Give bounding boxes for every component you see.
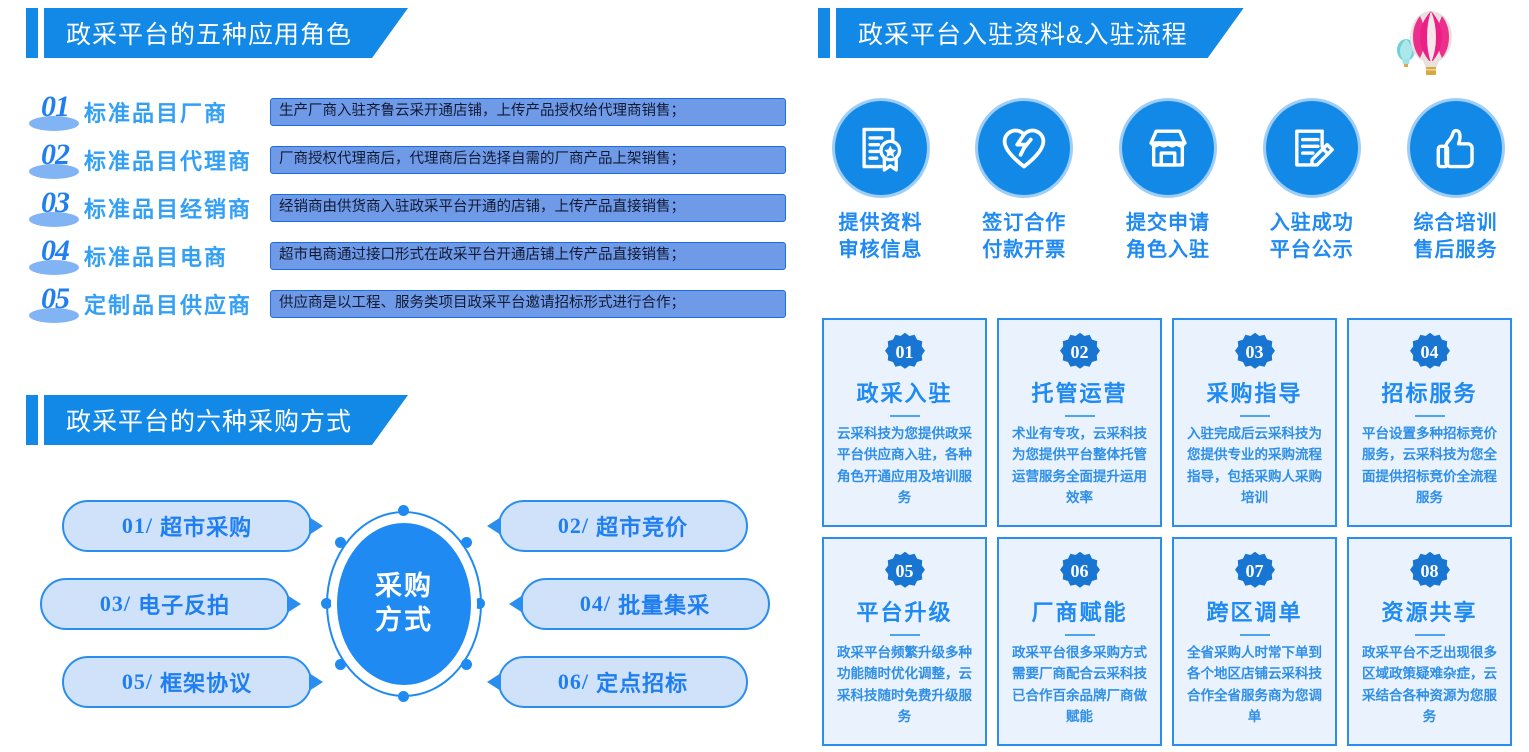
role-number-text: 02 — [26, 138, 84, 172]
step-caption: 提供资料 审核信息 — [839, 210, 923, 264]
role-name: 定制品目供应商 — [84, 288, 270, 320]
roles-section-title: 政采平台的五种应用角色 — [66, 15, 352, 51]
card-divider — [890, 634, 920, 636]
card-title: 厂商赋能 — [1031, 595, 1127, 627]
card-text: 政采平台很多采购方式需要厂商配合云采科技已合作百余品牌厂商做赋能 — [999, 642, 1160, 727]
role-row: 02 标准品目代理商 厂商授权代理商后，代理商后台选择自需的厂商产品上架销售； — [26, 136, 786, 184]
onboarding-step[interactable]: 提交申请 角色入驻 — [1106, 98, 1231, 288]
document-edit-icon — [1285, 121, 1339, 175]
service-card[interactable]: 08 资源共享 政采平台不乏出现很多区域政策疑难杂症，云采结合各种资源为您服务 — [1347, 537, 1512, 746]
step-icon-circle — [1407, 98, 1505, 198]
card-number-text: 06 — [1060, 551, 1100, 591]
onboarding-step[interactable]: 签订合作 付款开票 — [962, 98, 1087, 288]
role-number-badge: 05 — [26, 284, 84, 324]
card-divider — [1415, 415, 1445, 417]
step-caption: 入驻成功 平台公示 — [1270, 210, 1354, 264]
card-text: 平台设置多种招标竞价服务，云采科技为您全面提供招标竞价全流程服务 — [1349, 423, 1510, 508]
service-card[interactable]: 06 厂商赋能 政采平台很多采购方式需要厂商配合云采科技已合作百余品牌厂商做赋能 — [997, 537, 1162, 746]
step-caption-line2: 售后服务 — [1414, 237, 1498, 264]
method-bubble-03[interactable]: 03/ 电子反拍 — [40, 578, 290, 630]
role-description: 厂商授权代理商后，代理商后台选择自需的厂商产品上架销售； — [270, 146, 786, 174]
method-bubble-01[interactable]: 01/ 超市采购 — [62, 500, 312, 552]
card-number-badge: 04 — [1410, 332, 1450, 372]
card-divider — [1415, 634, 1445, 636]
thumbs-up-icon — [1429, 121, 1483, 175]
card-number-text: 01 — [885, 332, 925, 372]
card-number-text: 07 — [1235, 551, 1275, 591]
role-number-text: 01 — [26, 90, 84, 124]
step-caption: 提交申请 角色入驻 — [1126, 210, 1210, 264]
card-number-badge: 07 — [1235, 551, 1275, 591]
method-label: 批量集采 — [618, 588, 710, 620]
method-bubble-05[interactable]: 05/ 框架协议 — [62, 656, 312, 708]
method-number: 01/ — [122, 513, 153, 539]
step-icon-circle — [1119, 98, 1217, 198]
step-caption-line1: 入驻成功 — [1270, 210, 1354, 237]
hub-line-2: 方式 — [375, 604, 433, 638]
method-label: 框架协议 — [160, 666, 252, 698]
method-bubble-04[interactable]: 04/ 批量集采 — [520, 578, 770, 630]
hub-dot — [321, 598, 332, 609]
method-number: 05/ — [122, 669, 153, 695]
step-caption-line1: 提交申请 — [1126, 210, 1210, 237]
card-text: 入驻完成后云采科技为您提供专业的采购流程指导，包括采购人采购培训 — [1174, 423, 1335, 508]
storefront-icon — [1141, 121, 1195, 175]
hub-dot — [461, 537, 472, 548]
role-row: 05 定制品目供应商 供应商是以工程、服务类项目政采平台邀请招标形式进行合作； — [26, 280, 786, 328]
service-card[interactable]: 01 政采入驻 云采科技为您提供政采平台供应商入驻，各种角色开通应用及培训服务 — [822, 318, 987, 527]
role-number-badge: 04 — [26, 236, 84, 276]
hot-air-balloon-icon — [1382, 6, 1462, 78]
card-title: 资源共享 — [1381, 595, 1477, 627]
card-text: 云采科技为您提供政采平台供应商入驻，各种角色开通应用及培训服务 — [824, 423, 985, 508]
step-icon-circle — [975, 98, 1073, 198]
hub-dot — [335, 537, 346, 548]
card-divider — [1240, 634, 1270, 636]
banner-tick — [26, 395, 38, 445]
step-icon-circle — [832, 98, 930, 198]
onboarding-step[interactable]: 提供资料 审核信息 — [818, 98, 943, 288]
role-number-text: 04 — [26, 234, 84, 268]
roles-section-banner: 政采平台的五种应用角色 — [26, 8, 408, 58]
card-number-badge: 03 — [1235, 332, 1275, 372]
onboarding-step[interactable]: 综合培训 售后服务 — [1393, 98, 1518, 288]
method-number: 03/ — [100, 591, 131, 617]
role-row: 04 标准品目电商 超市电商通过接口形式在政采平台开通店铺上传产品直接销售； — [26, 232, 786, 280]
step-caption-line1: 签订合作 — [982, 210, 1066, 237]
service-cards-grid: 01 政采入驻 云采科技为您提供政采平台供应商入驻，各种角色开通应用及培训服务 … — [822, 318, 1512, 746]
role-description: 供应商是以工程、服务类项目政采平台邀请招标形式进行合作； — [270, 290, 786, 318]
role-row: 01 标准品目厂商 生产厂商入驻齐鲁云采开通店铺，上传产品授权给代理商销售； — [26, 88, 786, 136]
method-label: 电子反拍 — [138, 588, 230, 620]
role-number-badge: 01 — [26, 92, 84, 132]
service-card[interactable]: 07 跨区调单 全省采购人时常下单到各个地区店铺云采科技合作全省服务商为您调单 — [1172, 537, 1337, 746]
step-caption-line1: 综合培训 — [1414, 210, 1498, 237]
method-label: 定点招标 — [596, 666, 688, 698]
service-card[interactable]: 03 采购指导 入驻完成后云采科技为您提供专业的采购流程指导，包括采购人采购培训 — [1172, 318, 1337, 527]
card-text: 全省采购人时常下单到各个地区店铺云采科技合作全省服务商为您调单 — [1174, 642, 1335, 727]
card-number-badge: 08 — [1410, 551, 1450, 591]
roles-list: 01 标准品目厂商 生产厂商入驻齐鲁云采开通店铺，上传产品授权给代理商销售； 0… — [26, 88, 786, 328]
card-number-text: 05 — [885, 551, 925, 591]
card-divider — [890, 415, 920, 417]
banner-body: 政采平台的五种应用角色 — [44, 8, 408, 58]
certificate-icon — [854, 121, 908, 175]
method-label: 超市竞价 — [596, 510, 688, 542]
card-number-text: 03 — [1235, 332, 1275, 372]
hub-dot — [461, 659, 472, 670]
step-caption: 综合培训 售后服务 — [1414, 210, 1498, 264]
card-number-badge: 02 — [1060, 332, 1100, 372]
hub-dot — [335, 659, 346, 670]
method-number: 02/ — [558, 513, 589, 539]
step-caption-line2: 审核信息 — [839, 237, 923, 264]
banner-gap — [38, 8, 44, 58]
onboarding-step[interactable]: 入驻成功 平台公示 — [1249, 98, 1374, 288]
role-description: 经销商由供货商入驻政采平台开通的店铺，上传产品直接销售； — [270, 194, 786, 222]
method-bubble-02[interactable]: 02/ 超市竞价 — [498, 500, 748, 552]
service-card[interactable]: 04 招标服务 平台设置多种招标竞价服务，云采科技为您全面提供招标竞价全流程服务 — [1347, 318, 1512, 527]
step-caption-line2: 付款开票 — [982, 237, 1066, 264]
role-row: 03 标准品目经销商 经销商由供货商入驻政采平台开通的店铺，上传产品直接销售； — [26, 184, 786, 232]
methods-hub: 采购 方式 — [324, 509, 484, 699]
card-number-badge: 01 — [885, 332, 925, 372]
card-text: 政采平台不乏出现很多区域政策疑难杂症，云采结合各种资源为您服务 — [1349, 642, 1510, 727]
hub-core: 采购 方式 — [337, 523, 471, 685]
step-caption-line2: 角色入驻 — [1126, 237, 1210, 264]
banner-body: 政采平台的六种采购方式 — [44, 395, 408, 445]
onboarding-section-title: 政采平台入驻资料&入驻流程 — [858, 15, 1188, 51]
card-number-text: 08 — [1410, 551, 1450, 591]
method-label: 超市采购 — [160, 510, 252, 542]
banner-gap — [830, 8, 836, 58]
hub-dot — [398, 505, 409, 516]
poster-root: 政采平台的五种应用角色 01 标准品目厂商 生产厂商入驻齐鲁云采开通店铺，上传产… — [0, 0, 1529, 752]
role-name: 标准品目电商 — [84, 240, 270, 272]
card-number-badge: 06 — [1060, 551, 1100, 591]
methods-section-banner: 政采平台的六种采购方式 — [26, 395, 408, 445]
card-title: 平台升级 — [856, 595, 952, 627]
card-text: 政采平台频繁升级多种功能随时优化调整，云采科技随时免费升级服务 — [824, 642, 985, 727]
handshake-heart-icon — [997, 121, 1051, 175]
card-number-badge: 05 — [885, 551, 925, 591]
banner-gap — [38, 395, 44, 445]
role-description: 生产厂商入驻齐鲁云采开通店铺，上传产品授权给代理商销售； — [270, 98, 786, 126]
card-divider — [1240, 415, 1270, 417]
step-icon-circle — [1263, 98, 1361, 198]
card-divider — [1065, 634, 1095, 636]
banner-tick — [26, 8, 38, 58]
card-text: 术业有专攻，云采科技为您提供平台整体托管运营服务全面提升运用效率 — [999, 423, 1160, 508]
card-title: 招标服务 — [1381, 376, 1477, 408]
hub-line-1: 采购 — [375, 570, 433, 604]
method-bubble-06[interactable]: 06/ 定点招标 — [498, 656, 748, 708]
card-number-text: 04 — [1410, 332, 1450, 372]
onboarding-section-banner: 政采平台入驻资料&入驻流程 — [818, 8, 1244, 58]
method-number: 06/ — [558, 669, 589, 695]
card-number-text: 02 — [1060, 332, 1100, 372]
role-name: 标准品目经销商 — [84, 192, 270, 224]
step-caption-line2: 平台公示 — [1270, 237, 1354, 264]
role-number-badge: 02 — [26, 140, 84, 180]
hub-dot — [474, 598, 485, 609]
methods-section-title: 政采平台的六种采购方式 — [66, 402, 352, 438]
banner-tick — [818, 8, 830, 58]
card-divider — [1065, 415, 1095, 417]
role-name: 标准品目厂商 — [84, 96, 270, 128]
hub-dot — [398, 691, 409, 702]
role-description: 超市电商通过接口形式在政采平台开通店铺上传产品直接销售； — [270, 242, 786, 270]
banner-body: 政采平台入驻资料&入驻流程 — [836, 8, 1244, 58]
card-title: 政采入驻 — [856, 376, 952, 408]
method-number: 04/ — [580, 591, 611, 617]
role-number-text: 03 — [26, 186, 84, 220]
service-card[interactable]: 02 托管运营 术业有专攻，云采科技为您提供平台整体托管运营服务全面提升运用效率 — [997, 318, 1162, 527]
service-card[interactable]: 05 平台升级 政采平台频繁升级多种功能随时优化调整，云采科技随时免费升级服务 — [822, 537, 987, 746]
onboarding-steps: 提供资料 审核信息 签订合作 付款开票 — [818, 98, 1518, 288]
card-title: 托管运营 — [1031, 376, 1127, 408]
role-number-text: 05 — [26, 282, 84, 316]
step-caption: 签订合作 付款开票 — [982, 210, 1066, 264]
role-name: 标准品目代理商 — [84, 144, 270, 176]
card-title: 采购指导 — [1206, 376, 1302, 408]
step-caption-line1: 提供资料 — [839, 210, 923, 237]
role-number-badge: 03 — [26, 188, 84, 228]
card-title: 跨区调单 — [1206, 595, 1302, 627]
